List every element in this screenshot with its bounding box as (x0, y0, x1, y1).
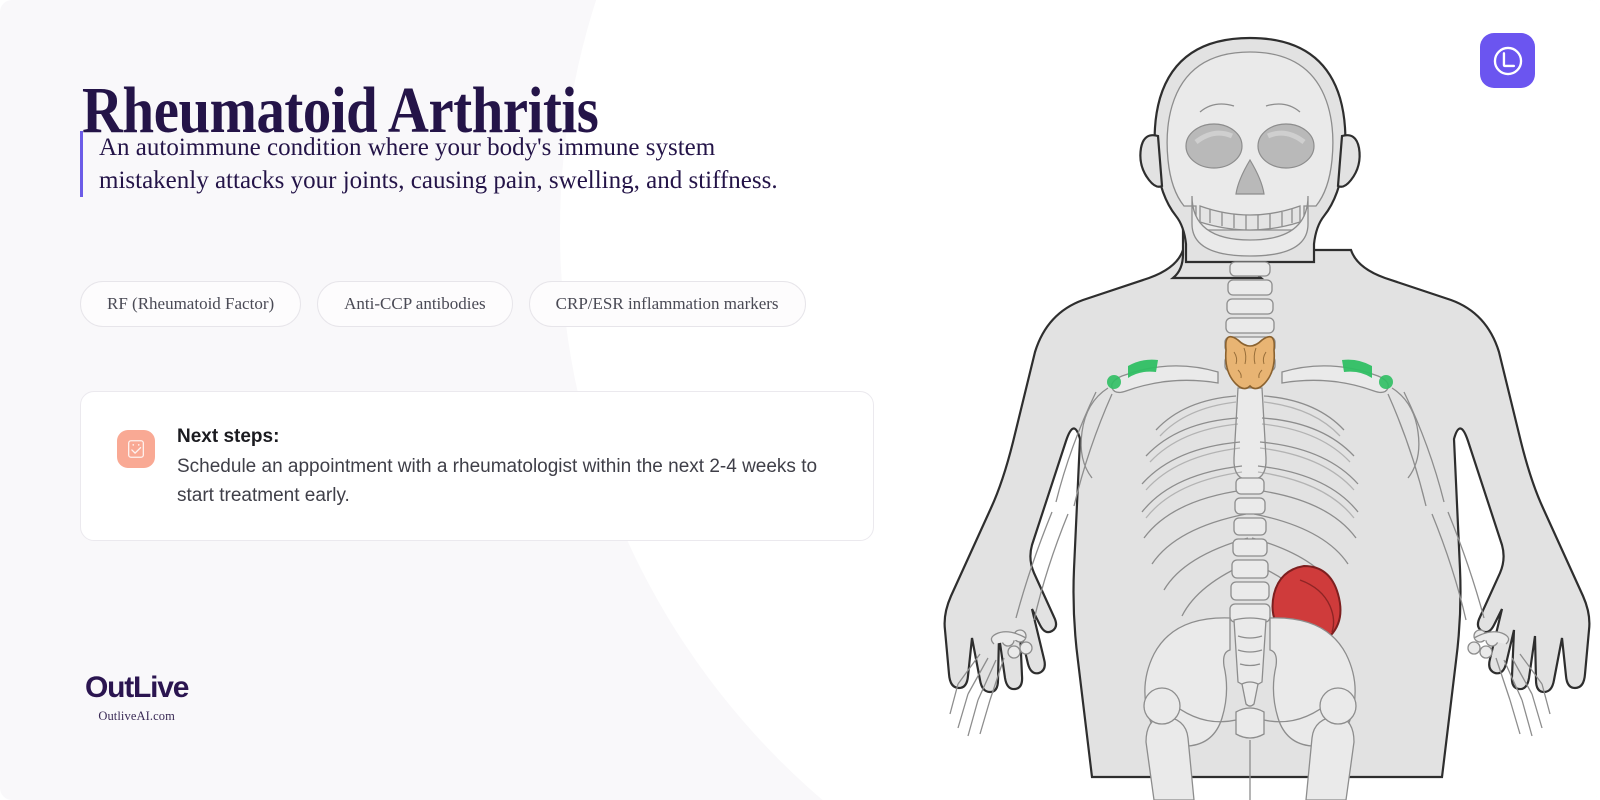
clipboard-check-icon (117, 430, 155, 468)
marker-chip-list: RF (Rheumatoid Factor) Anti-CCP antibodi… (80, 281, 806, 327)
next-steps-text: Schedule an appointment with a rheumatol… (177, 452, 827, 510)
footer-branding: OutLive OutliveAI.com (85, 672, 188, 724)
outlive-logo-badge[interactable] (1480, 33, 1535, 88)
anatomy-illustration: .body { fill:#e2e2e2; stroke:#2e2e2e; st… (900, 0, 1600, 800)
marker-chip-anti-ccp[interactable]: Anti-CCP antibodies (317, 281, 513, 327)
marker-chip-crp-esr[interactable]: CRP/ESR inflammation markers (529, 281, 806, 327)
subtitle-block: An autoimmune condition where your body'… (80, 131, 820, 197)
infographic-page: .body { fill:#e2e2e2; stroke:#2e2e2e; st… (0, 0, 1600, 800)
marker-chip-rf[interactable]: RF (Rheumatoid Factor) (80, 281, 301, 327)
next-steps-heading: Next steps: (177, 424, 827, 450)
page-subtitle: An autoimmune condition where your body'… (99, 131, 820, 197)
outlive-wordmark: OutLive (85, 672, 188, 704)
next-steps-body: Next steps: Schedule an appointment with… (177, 422, 827, 510)
content-column: Rheumatoid Arthritis An autoimmune condi… (0, 0, 940, 800)
footer-url: OutliveAI.com (85, 709, 188, 724)
next-steps-card: Next steps: Schedule an appointment with… (80, 391, 874, 541)
